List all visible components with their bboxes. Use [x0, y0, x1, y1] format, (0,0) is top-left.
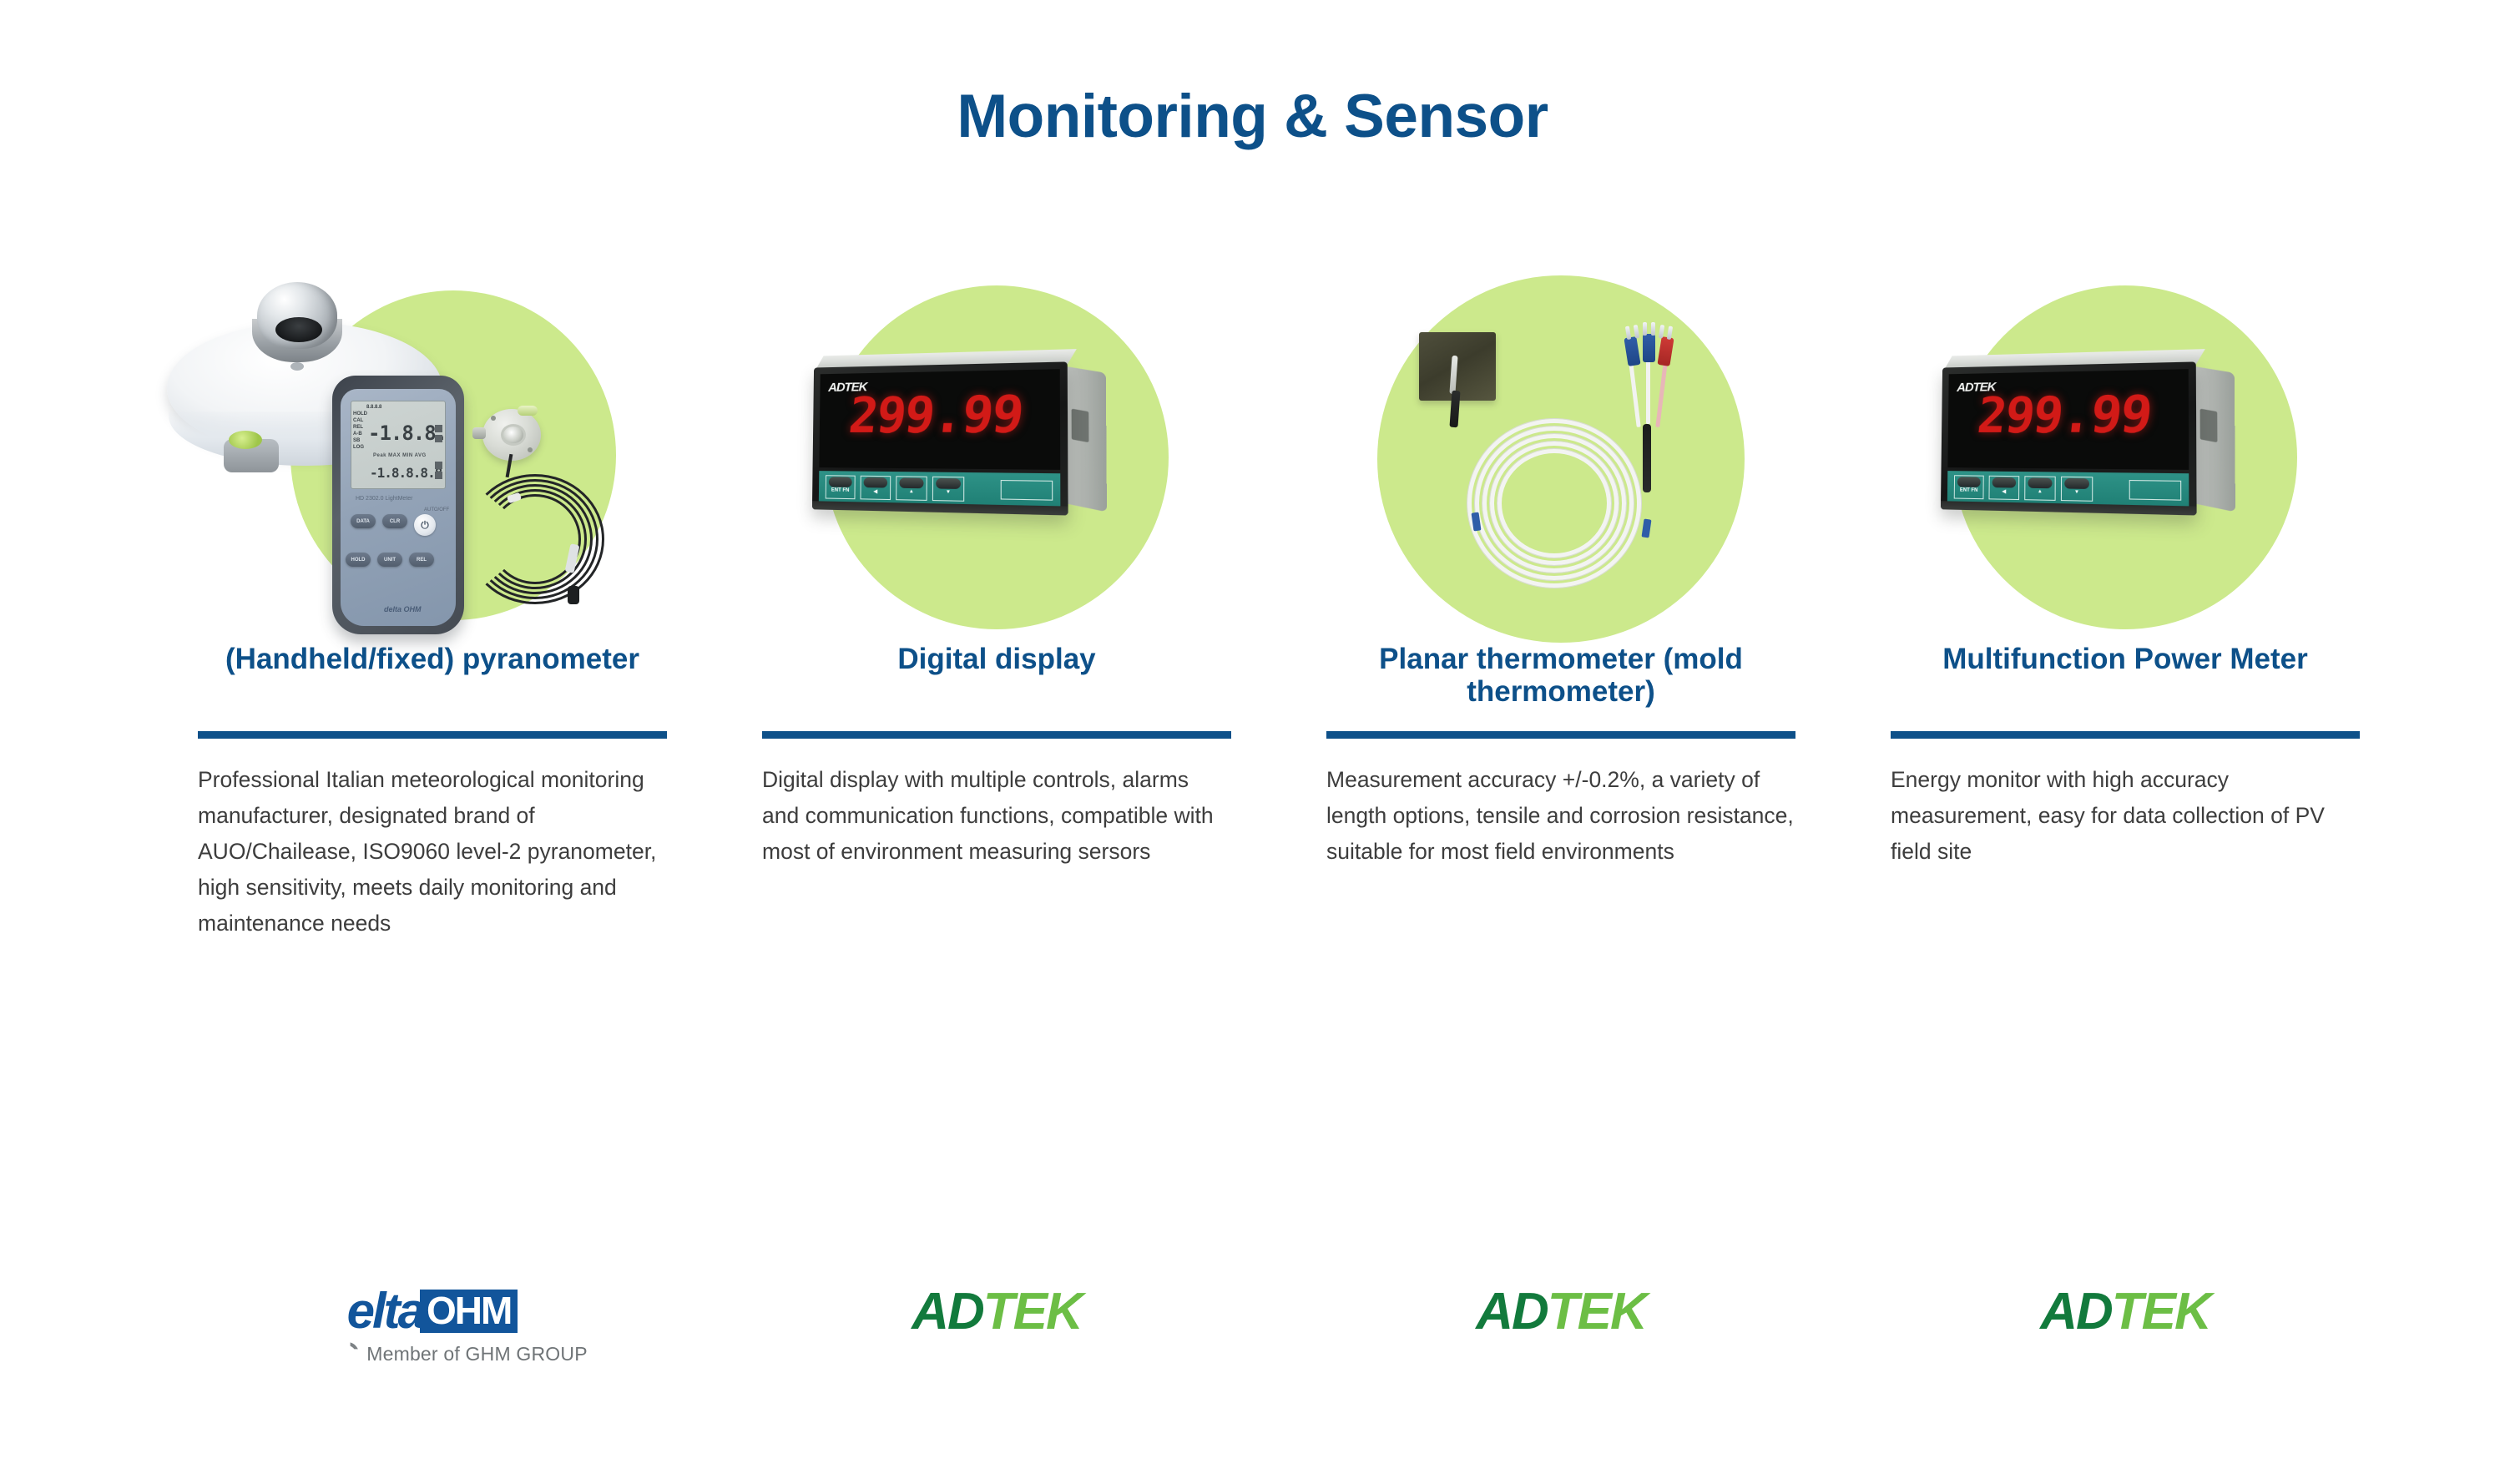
- brand-cell-adtek-2: ADTEK: [1279, 1285, 1843, 1436]
- delta-ohm-wordmark: elta OHM: [236, 1285, 629, 1337]
- product-column-pyranometer: HOLD CAL REL A-B SB LOG 8.8.8.8 -1.8.8.8…: [150, 275, 715, 1194]
- slide-root: Monitoring & Sensor: [0, 0, 2505, 1484]
- panel-meter-key-left[interactable]: ◀: [1988, 476, 2019, 500]
- key-label: ENT FN: [1960, 487, 1978, 492]
- digital-panel-meter-photo: ADTEK 299.99 ENT FN ◀: [812, 361, 1068, 515]
- adtek-logo-tek: TEK: [2112, 1283, 2210, 1340]
- lcd-mode-log: LOG: [353, 445, 367, 450]
- pyranometer-bubble-level: [229, 431, 262, 449]
- thermometer-cable-sheath: [1643, 424, 1651, 492]
- panel-meter-label-window: [1001, 480, 1053, 501]
- handheld-clr-button[interactable]: CLR: [382, 514, 407, 528]
- thermometer-probe-sleeve: [1449, 391, 1460, 428]
- thermometer-lead-wire-1: [1629, 362, 1640, 427]
- thermometer-cable-coil: [1467, 419, 1649, 596]
- brand-logo-row: elta OHM Member of GHM GROUP ADTEK ADTEK…: [150, 1285, 2404, 1436]
- page-title: Monitoring & Sensor: [0, 82, 2505, 151]
- panel-meter-key-down[interactable]: ▼: [2061, 477, 2093, 502]
- lcd-mode-hold: HOLD: [353, 411, 367, 416]
- product-heading-multifunction-power-meter: Multifunction Power Meter: [1843, 643, 2407, 719]
- lcd-mode-labels: HOLD CAL REL A-B SB LOG: [353, 411, 367, 450]
- adtek-logo: ADTEK: [912, 1285, 1082, 1339]
- handheld-power-label: AUTO/OFF: [424, 507, 449, 512]
- product-column-multifunction-power-meter: ADTEK 299.99 ENT FN ◀: [1843, 275, 2407, 1194]
- panel-meter-key-down[interactable]: ▼: [932, 477, 964, 502]
- sensor-cable-plug: [568, 586, 579, 604]
- adtek-logo-tek: TEK: [1548, 1283, 1646, 1340]
- key-cap: [936, 478, 961, 489]
- key-cap: [2064, 478, 2089, 489]
- ghm-ring-icon: [336, 1342, 359, 1365]
- handheld-brand-logo: delta OHM: [384, 606, 422, 613]
- product-column-planar-thermometer: Planar thermometer (mold thermometer) Me…: [1279, 275, 1843, 1194]
- heading-divider-rule: [1891, 731, 2360, 739]
- panel-meter-reading: 299.99: [846, 384, 1026, 444]
- thermometer-lead-wire-3: [1655, 362, 1667, 427]
- multifunction-power-meter-photo: ADTEK 299.99 ENT FN ◀: [1941, 361, 2197, 515]
- adtek-logo-ad: AD: [2040, 1283, 2112, 1340]
- key-cap: [829, 477, 852, 487]
- panel-meter-side-vent: [1072, 409, 1089, 443]
- brand-cell-delta-ohm: elta OHM Member of GHM GROUP: [150, 1285, 715, 1436]
- handheld-unit-button[interactable]: UNIT: [377, 553, 402, 567]
- thermometer-spade-fork-2: [1643, 322, 1655, 336]
- product-figure-digital-display: ADTEK 299.99 ENT FN ◀: [715, 275, 1279, 634]
- handheld-data-button[interactable]: DATA: [351, 514, 376, 528]
- lcd-bargraph-seg-3: [435, 462, 442, 469]
- adtek-logo: ADTEK: [1476, 1285, 1646, 1339]
- product-heading-planar-thermometer: Planar thermometer (mold thermometer): [1279, 643, 1843, 719]
- pyranometer-screw: [290, 362, 304, 371]
- delta-ohm-logo: elta OHM Member of GHM GROUP: [236, 1285, 629, 1386]
- lcd-secondary-value: -1.8.8.8.8: [370, 465, 442, 481]
- member-of-ghm-group-label: Member of GHM GROUP: [366, 1343, 588, 1365]
- handheld-hold-button[interactable]: HOLD: [346, 553, 371, 567]
- panel-meter-front-bezel: ADTEK 299.99 ENT FN ◀: [1941, 361, 2197, 515]
- key-cap: [1957, 477, 1981, 487]
- delta-ohm-member-line: Member of GHM GROUP: [295, 1342, 629, 1365]
- adtek-logo-ad: AD: [912, 1283, 983, 1340]
- pyranometer-sensor-aperture: [275, 317, 322, 342]
- panel-meter-key-left[interactable]: ◀: [860, 476, 891, 500]
- pyranometer-photo: HOLD CAL REL A-B SB LOG 8.8.8.8 -1.8.8.8…: [150, 275, 715, 634]
- thermometer-spade-fork-3: [1659, 325, 1673, 340]
- down-arrow-icon: ▼: [946, 490, 951, 495]
- panel-meter-display-screen: ADTEK 299.99: [1947, 369, 2189, 470]
- product-columns: HOLD CAL REL A-B SB LOG 8.8.8.8 -1.8.8.8…: [150, 275, 2404, 1194]
- thermometer-lead-wire-2: [1646, 359, 1650, 424]
- panel-meter-side-vent: [2200, 409, 2218, 443]
- product-column-digital-display: ADTEK 299.99 ENT FN ◀: [715, 275, 1279, 1194]
- thermometer-terminal-blue-1: [1624, 336, 1640, 366]
- lcd-mode-sb: SB: [353, 438, 367, 443]
- reference-sensor-connector-nub: [472, 427, 486, 439]
- brand-cell-adtek-1: ADTEK: [715, 1285, 1279, 1436]
- lcd-bargraph-seg-4: [435, 472, 442, 479]
- reference-sensor-bubble-level: [518, 406, 538, 416]
- adtek-logo-ad: AD: [1476, 1283, 1548, 1340]
- panel-meter-label-window: [2129, 480, 2182, 501]
- panel-meter-key-ent-fn[interactable]: ENT FN: [826, 475, 856, 499]
- left-arrow-icon: ◀: [873, 488, 877, 494]
- product-description-planar-thermometer: Measurement accuracy +/-0.2%, a variety …: [1326, 762, 1795, 870]
- product-description-multifunction-power-meter: Energy monitor with high accuracy measur…: [1891, 762, 2360, 870]
- handheld-meter-faceplate: HOLD CAL REL A-B SB LOG 8.8.8.8 -1.8.8.8…: [341, 389, 456, 626]
- delta-wordmark: elta: [347, 1287, 423, 1335]
- key-cap: [899, 477, 923, 488]
- lcd-mode-cal: CAL: [353, 418, 367, 423]
- heading-divider-rule: [198, 731, 667, 739]
- lcd-mode-rel: REL: [353, 425, 367, 430]
- up-arrow-icon: ▲: [2038, 489, 2043, 494]
- panel-meter-key-up[interactable]: ▲: [2024, 476, 2056, 501]
- panel-meter-display-screen: ADTEK 299.99: [819, 369, 1060, 470]
- planar-thermometer-photo: [1279, 275, 1843, 634]
- product-figure-planar-thermometer: [1279, 275, 1843, 634]
- product-description-digital-display: Digital display with multiple controls, …: [762, 762, 1231, 870]
- handheld-button-row-2: HOLD UNIT REL: [346, 553, 434, 567]
- panel-meter-key-up[interactable]: ▲: [896, 476, 927, 501]
- panel-meter-front-bezel: ADTEK 299.99 ENT FN ◀: [812, 361, 1068, 515]
- reference-sensor-screw-2: [528, 447, 533, 452]
- left-arrow-icon: ◀: [2002, 488, 2006, 494]
- product-description-pyranometer: Professional Italian meteorological moni…: [198, 762, 667, 941]
- lcd-stat-labels: Peak MAX MIN AVG: [373, 453, 427, 458]
- product-figure-multifunction-power-meter: ADTEK 299.99 ENT FN ◀: [1843, 275, 2407, 634]
- handheld-button-row-1: DATA CLR ⏻: [351, 514, 436, 536]
- heading-divider-rule: [1326, 731, 1795, 739]
- thermometer-cable-tie-right: [1642, 518, 1652, 538]
- lcd-bargraph-seg-2: [435, 435, 442, 442]
- thermometer-spade-fork-1: [1625, 325, 1639, 340]
- heading-divider-rule: [762, 731, 1231, 739]
- lcd-mode-ab: A-B: [353, 432, 367, 437]
- ohm-wordmark: OHM: [420, 1290, 518, 1333]
- handheld-power-button[interactable]: ⏻: [414, 514, 436, 536]
- thermometer-terminal-blue-2: [1643, 334, 1655, 362]
- key-cap: [1992, 477, 2016, 488]
- lcd-bargraph-seg-1: [435, 425, 442, 432]
- handheld-meter-model-label: HD 2302.0 LightMeter: [356, 496, 412, 502]
- key-cap: [2028, 477, 2052, 488]
- product-heading-digital-display: Digital display: [715, 643, 1279, 719]
- key-cap: [864, 477, 887, 488]
- sensor-cable-coil: [461, 469, 611, 611]
- product-figure-pyranometer: HOLD CAL REL A-B SB LOG 8.8.8.8 -1.8.8.8…: [150, 275, 715, 634]
- handheld-rel-button[interactable]: REL: [409, 553, 434, 567]
- panel-meter-reading: 299.99: [1975, 384, 2154, 444]
- brand-cell-adtek-3: ADTEK: [1843, 1285, 2407, 1436]
- reference-sensor-lens: [501, 424, 526, 446]
- handheld-meter-body: HOLD CAL REL A-B SB LOG 8.8.8.8 -1.8.8.8…: [332, 376, 464, 634]
- key-label: ENT FN: [831, 487, 850, 492]
- panel-meter-key-ent-fn[interactable]: ENT FN: [1954, 475, 1984, 499]
- product-heading-pyranometer: (Handheld/fixed) pyranometer: [150, 643, 715, 719]
- adtek-logo-tek: TEK: [983, 1283, 1082, 1340]
- up-arrow-icon: ▲: [909, 489, 914, 494]
- reference-sensor-screw-1: [491, 416, 496, 421]
- down-arrow-icon: ▼: [2074, 490, 2079, 495]
- thermometer-terminal-red: [1657, 336, 1674, 366]
- handheld-meter-lcd: HOLD CAL REL A-B SB LOG 8.8.8.8 -1.8.8.8…: [351, 401, 446, 489]
- lcd-secondary-digits: 8.8.8.8: [366, 405, 381, 410]
- adtek-logo: ADTEK: [2040, 1285, 2210, 1339]
